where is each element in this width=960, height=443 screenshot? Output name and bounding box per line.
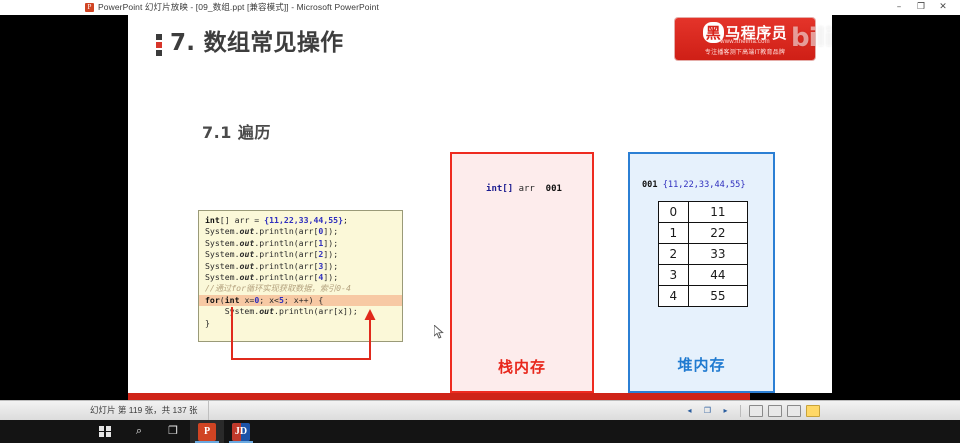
code-line: }: [199, 318, 402, 329]
bilibili-watermark-text: bilibili: [791, 23, 832, 53]
restore-icon: ❐: [917, 3, 925, 12]
titlebar-left-pad: [0, 0, 85, 15]
code-block: int[] arr = {11,22,33,44,55}; System.out…: [198, 210, 403, 342]
stack-var-name: arr: [519, 184, 535, 194]
array-index: 1: [659, 223, 689, 244]
mouse-cursor-icon: [434, 325, 444, 339]
window-controls: – ❐ ✕: [888, 0, 954, 15]
bilibili-watermark: bilibili: [791, 23, 832, 53]
array-value: 33: [688, 244, 747, 265]
stack-var-value: 001: [546, 184, 562, 194]
powerpoint-taskbar-glyph: P: [204, 426, 210, 437]
heap-array-table: 0 11 1 22 2 33 3 44: [658, 201, 748, 307]
array-value: 22: [688, 223, 747, 244]
array-index: 2: [659, 244, 689, 265]
minimize-button[interactable]: –: [888, 0, 910, 15]
code-comment-line: //通过for循环实现获取数据，索引0-4: [199, 283, 402, 294]
close-button[interactable]: ✕: [932, 0, 954, 15]
minimize-icon: –: [897, 3, 902, 12]
array-index: 0: [659, 202, 689, 223]
taskbar-app-powerpoint[interactable]: P: [190, 420, 224, 443]
zoom-out-button[interactable]: ◂: [683, 404, 696, 417]
status-bar: 幻灯片 第 119 张，共 137 张 ◂ ❐ ▸: [0, 400, 960, 420]
array-value: 55: [688, 286, 747, 307]
windows-start-icon: [99, 426, 111, 438]
code-line: System.out.println(arr[4]);: [199, 272, 402, 283]
fit-to-window-button[interactable]: ❐: [701, 404, 714, 417]
powerpoint-icon: [85, 3, 94, 12]
stack-memory-panel: int[] arr 001 栈内存: [450, 152, 594, 393]
array-value: 44: [688, 265, 747, 286]
code-line: System.out.println(arr[3]);: [199, 261, 402, 272]
code-line: System.out.println(arr[1]);: [199, 238, 402, 249]
view-reading-button[interactable]: [787, 405, 801, 417]
view-slideshow-button[interactable]: [806, 405, 820, 417]
media-app-taskbar-icon: JD: [232, 423, 250, 441]
table-row: 3 44: [659, 265, 748, 286]
table-row: 4 55: [659, 286, 748, 307]
heap-table-body: 0 11 1 22 2 33 3 44: [659, 202, 748, 307]
taskbar-search-button[interactable]: ⌕: [122, 420, 156, 443]
slide-canvas[interactable]: 黑马程序员 www.itheima.com 专注播客测下高端IT教育品牌 bil…: [128, 15, 832, 393]
status-bar-right: ◂ ❐ ▸: [683, 404, 820, 417]
slideshow-stage[interactable]: 黑马程序员 www.itheima.com 专注播客测下高端IT教育品牌 bil…: [0, 15, 960, 400]
close-icon: ✕: [939, 3, 947, 12]
screen: PowerPoint 幻灯片放映 - [09_数组.ppt [兼容模式]] - …: [0, 0, 960, 443]
task-view-icon: ❐: [168, 426, 178, 437]
array-index: 4: [659, 286, 689, 307]
restore-button[interactable]: ❐: [910, 0, 932, 15]
table-row: 2 33: [659, 244, 748, 265]
zoom-in-button[interactable]: ▸: [719, 404, 732, 417]
array-value: 11: [688, 202, 747, 223]
view-normal-button[interactable]: [749, 405, 763, 417]
search-icon: ⌕: [136, 426, 142, 437]
powerpoint-taskbar-icon: P: [198, 423, 216, 441]
code-line: System.out.println(arr[x]);: [199, 306, 402, 317]
table-row: 0 11: [659, 202, 748, 223]
slideshow-progress-bar[interactable]: [0, 393, 960, 400]
view-sorter-button[interactable]: [768, 405, 782, 417]
slide-heading: 7. 数组常见操作: [156, 31, 343, 56]
heap-contents: {11,22,33,44,55}: [663, 180, 746, 190]
heap-header: 001 {11,22,33,44,55}: [642, 180, 746, 190]
start-button[interactable]: [88, 420, 122, 443]
heading-text: 7. 数组常见操作: [170, 31, 343, 56]
heap-address: 001: [642, 180, 658, 190]
slide-subheading: 7.1 遍历: [202, 119, 271, 143]
code-highlighted-line: for(int x=0; x<5; x++) {: [199, 295, 402, 306]
cursor-svg: [434, 325, 444, 339]
stack-variable: int[] arr 001: [452, 184, 596, 194]
status-separator: [740, 405, 741, 417]
progress-fill: [128, 393, 750, 400]
window-titlebar: PowerPoint 幻灯片放映 - [09_数组.ppt [兼容模式]] - …: [0, 0, 960, 15]
table-row: 1 22: [659, 223, 748, 244]
task-view-button[interactable]: ❐: [156, 420, 190, 443]
code-line: int[] arr = {11,22,33,44,55};: [199, 215, 402, 226]
heap-memory-panel: 001 {11,22,33,44,55} 0 11 1 22 2: [628, 152, 775, 393]
slide-counter: 幻灯片 第 119 张，共 137 张: [90, 401, 209, 420]
stack-panel-label: 栈内存: [452, 356, 592, 377]
media-app-taskbar-glyph: JD: [235, 426, 247, 437]
taskbar-app-media[interactable]: JD: [224, 420, 258, 443]
code-line: System.out.println(arr[2]);: [199, 249, 402, 260]
windows-taskbar: ⌕ ❐ P JD: [0, 420, 960, 443]
stack-var-type: int[]: [486, 184, 513, 194]
code-line: System.out.println(arr[0]);: [199, 226, 402, 237]
heading-bullet-icon: [156, 34, 162, 56]
window-title: PowerPoint 幻灯片放映 - [09_数组.ppt [兼容模式]] - …: [98, 0, 379, 15]
array-index: 3: [659, 265, 689, 286]
heap-panel-label: 堆内存: [630, 354, 773, 375]
